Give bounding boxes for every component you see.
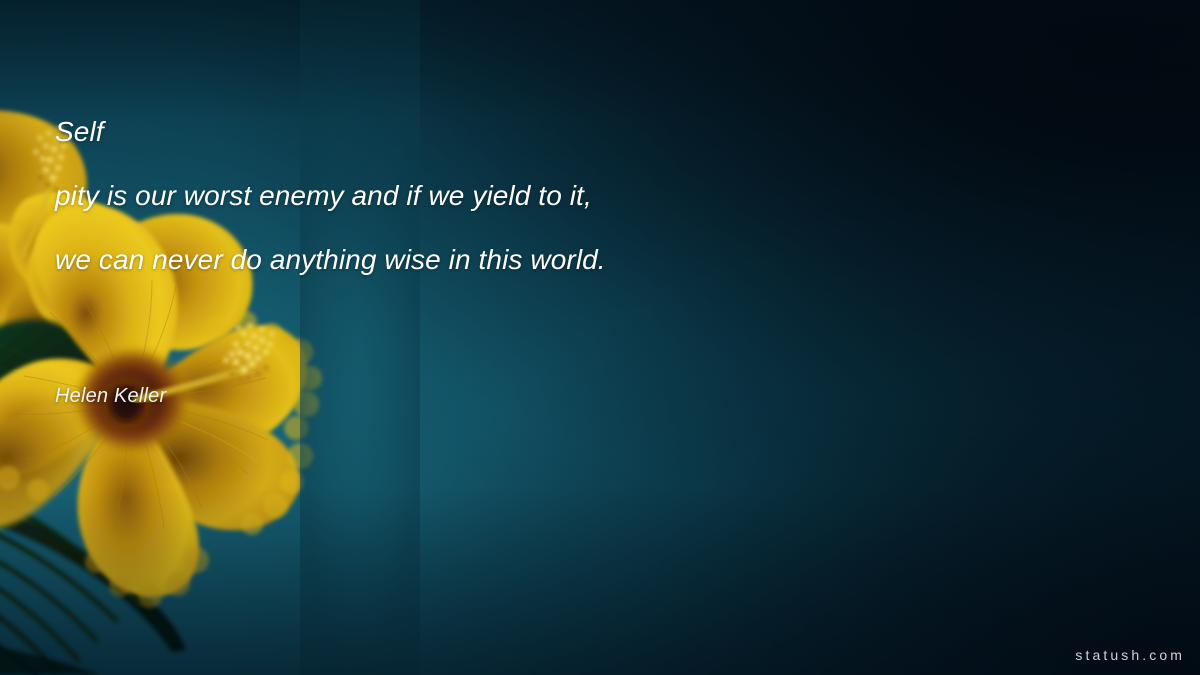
quote-line-1: Self — [55, 118, 1015, 146]
background-vignette — [0, 0, 1200, 675]
quote-poster: Self pity is our worst enemy and if we y… — [0, 0, 1200, 675]
quote-line-3: we can never do anything wise in this wo… — [55, 246, 1015, 274]
site-watermark: statush.com — [1075, 647, 1185, 663]
author-name: Helen Keller — [55, 385, 166, 408]
quote-line-2: pity is our worst enemy and if we yield … — [55, 182, 1015, 210]
quote-block: Self pity is our worst enemy and if we y… — [55, 118, 1015, 274]
